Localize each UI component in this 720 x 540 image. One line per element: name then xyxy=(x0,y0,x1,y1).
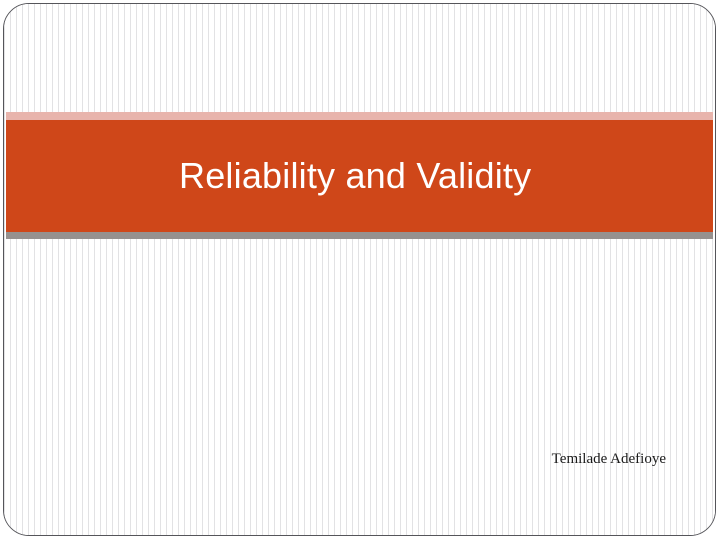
author-block: Temilade Adefioye xyxy=(4,450,666,468)
author-name: Temilade Adefioye xyxy=(552,450,666,468)
banner-stripe-top xyxy=(6,112,713,120)
slide-frame: Reliability and Validity Temilade Adefio… xyxy=(3,3,716,536)
title-banner: Reliability and Validity xyxy=(6,112,713,239)
banner-main: Reliability and Validity xyxy=(6,120,713,232)
banner-stripe-bottom xyxy=(6,232,713,239)
slide-canvas: Reliability and Validity Temilade Adefio… xyxy=(0,0,720,540)
page-title: Reliability and Validity xyxy=(179,156,531,196)
